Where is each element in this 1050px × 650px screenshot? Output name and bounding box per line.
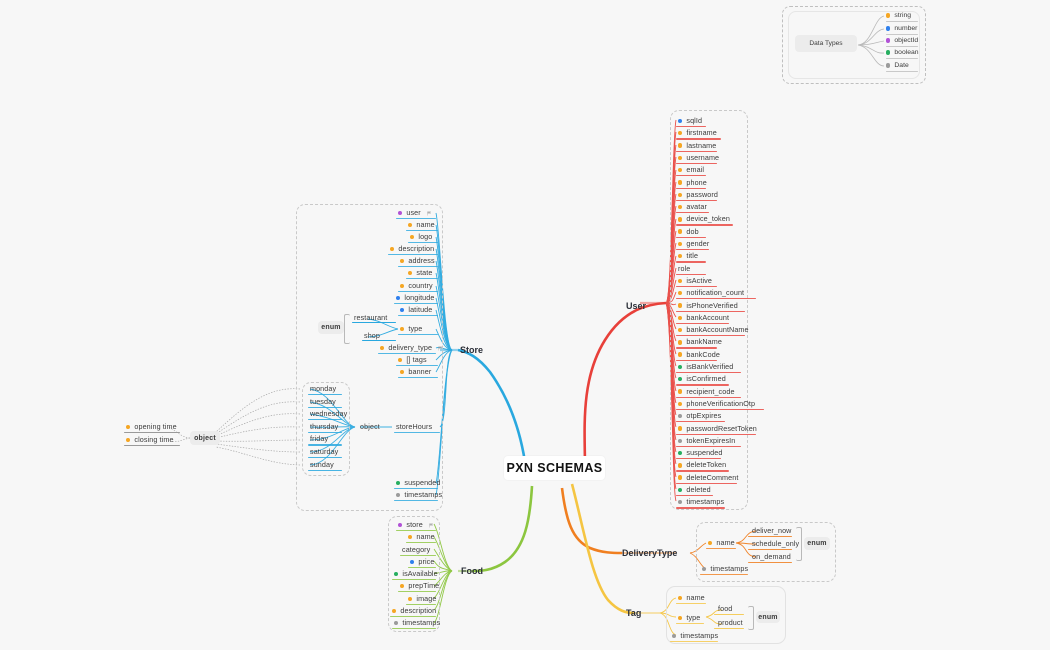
day-label: wednesday (310, 409, 347, 419)
field-label: country (408, 281, 432, 291)
field-label: deleteComment (686, 473, 738, 483)
field-label: bankAccount (686, 313, 729, 323)
type-dot-boolean (678, 488, 682, 492)
type-dot-string (678, 217, 682, 221)
type-dot-string (678, 205, 682, 209)
day-label: sunday (310, 460, 334, 470)
type-dot-number (886, 26, 890, 30)
type-dot-boolean (394, 572, 398, 576)
branch-title-tag[interactable]: Tag (626, 608, 641, 618)
field-label: passwordResetToken (686, 424, 757, 434)
user-field-underline (676, 151, 717, 152)
type-dot-string (678, 616, 682, 620)
legend-item-label: boolean (894, 49, 918, 56)
type-dot-number (400, 308, 404, 312)
type-dot-string (678, 229, 682, 233)
field-label: dob (686, 227, 698, 237)
field-label: banner (408, 367, 431, 377)
type-dot-string (678, 389, 682, 393)
type-dot-string (678, 596, 682, 600)
day-label: monday (310, 384, 336, 394)
field-label: bankName (686, 337, 722, 347)
user-field-underline (676, 446, 741, 447)
user-field-underline (676, 138, 721, 139)
user-field-underline (676, 384, 729, 385)
type-dot-string (678, 291, 682, 295)
user-field-underline (676, 507, 725, 508)
user-field-underline (676, 323, 729, 324)
type-dot-number (410, 560, 414, 564)
store-hours-day-tuesday[interactable]: tuesday (308, 397, 338, 408)
enum-value-label: schedule_only (752, 539, 799, 549)
store-hours-day-object-pill[interactable]: object (190, 431, 220, 445)
type-dot-objectid (398, 211, 402, 215)
flag-icon (438, 346, 443, 351)
store-hours-day-underline (308, 407, 342, 408)
user-field-phone[interactable]: phone (676, 178, 709, 189)
field-label: name (416, 532, 434, 542)
flag-icon (429, 523, 434, 528)
field-label: avatar (686, 202, 707, 212)
field-label: name (686, 593, 704, 603)
field-label: isAvailable (402, 569, 437, 579)
type-dot-number (396, 296, 400, 300)
type-dot-string (678, 426, 682, 430)
field-label: isActive (686, 276, 712, 286)
type-dot-string (398, 358, 402, 362)
field-label: email (686, 165, 704, 175)
type-dot-string (678, 475, 682, 479)
type-dot-string (678, 316, 682, 320)
field-label: firstname (686, 128, 716, 138)
user-field-underline (676, 311, 745, 312)
enum-value-label: product (718, 618, 743, 628)
field-label: sqlId (686, 116, 702, 126)
field-label: isBankVerified (686, 362, 733, 372)
type-dot-boolean (678, 365, 682, 369)
type-dot-date (886, 63, 890, 67)
type-dot-string (400, 327, 404, 331)
type-dot-string (708, 541, 712, 545)
day-label: friday (310, 434, 328, 444)
store-hours-day-underline (308, 444, 342, 445)
type-dot-string (678, 303, 682, 307)
legend-item-boolean[interactable]: boolean (886, 49, 919, 56)
field-label: bankAccountName (686, 325, 748, 335)
type-dot-string (678, 352, 682, 356)
legend-item-number[interactable]: number (886, 25, 917, 32)
center-node-label: PXN SCHEMAS (506, 461, 602, 475)
user-field-underline (676, 360, 717, 361)
field-label: otpExpires (686, 411, 721, 421)
field-label: password (686, 190, 718, 200)
type-dot-date (394, 621, 398, 625)
field-label: phone (686, 178, 707, 188)
field-label: prepTime (408, 581, 439, 591)
enum-value-label: food (718, 604, 732, 614)
branch-title-food[interactable]: Food (461, 566, 483, 576)
store-hours-day-underline (308, 432, 342, 433)
user-field-underline (676, 347, 717, 348)
field-label: timestamps (710, 564, 748, 574)
field-label: lastname (686, 141, 716, 151)
field-label: image (416, 594, 436, 604)
user-field-lastname[interactable]: lastname (676, 141, 718, 152)
type-dot-date (702, 567, 706, 571)
field-label: description (400, 606, 436, 616)
legend-item-label: objectId (894, 37, 918, 44)
user-field-isphoneverified[interactable]: isPhoneVerified (676, 301, 740, 312)
type-dot-boolean (886, 50, 890, 54)
center-node-pxn-schemas[interactable]: PXN SCHEMAS (504, 456, 605, 480)
type-dot-objectid (398, 523, 402, 527)
branch-title-user[interactable]: User (626, 301, 646, 311)
type-dot-string (126, 438, 130, 442)
deliverytype-enum-label[interactable]: enum (804, 537, 830, 550)
field-label: deleteToken (686, 460, 726, 470)
type-dot-string (678, 180, 682, 184)
enum-value-label: deliver_now (752, 526, 791, 536)
field-label: username (686, 153, 719, 163)
type-dot-date (678, 500, 682, 504)
type-dot-string (678, 193, 682, 197)
type-dot-string (886, 13, 890, 17)
field-label: state (416, 268, 432, 278)
type-dot-string (410, 235, 414, 239)
legend-item-string[interactable]: string (886, 12, 911, 19)
field-label: type (686, 613, 700, 623)
type-dot-string (400, 284, 404, 288)
legend-item-date[interactable]: Date (886, 62, 909, 69)
type-dot-boolean (678, 451, 682, 455)
field-label: tokenExpiresIn (686, 436, 735, 446)
branch-title-deliverytype[interactable]: DeliveryType (622, 548, 677, 558)
user-field-underline (676, 397, 741, 398)
field-label: [] tags (406, 355, 426, 365)
field-label: storeHours (396, 422, 432, 432)
type-dot-string (678, 156, 682, 160)
store-hours-closing-time-underline (124, 445, 180, 446)
user-field-underline (676, 470, 729, 471)
type-dot-string (678, 328, 682, 332)
user-field-underline (676, 261, 706, 262)
field-label: suspended (686, 448, 722, 458)
type-dot-date (678, 439, 682, 443)
connector-lines (0, 0, 1050, 650)
user-field-underline (676, 434, 756, 435)
type-dot-date (396, 493, 400, 497)
field-label: delivery_type (388, 343, 432, 353)
store-hours-opening-time-underline (124, 432, 180, 433)
store-hours-day-sunday[interactable]: sunday (308, 460, 336, 471)
field-label: isConfirmed (686, 374, 725, 384)
type-dot-objectid (886, 38, 890, 42)
type-dot-string (400, 259, 404, 263)
field-label: isPhoneVerified (686, 301, 737, 311)
legend-item-label: string (894, 12, 911, 19)
legend-item-objectid[interactable]: objectId (886, 37, 918, 44)
type-dot-date (678, 414, 682, 418)
tag-enum-label[interactable]: enum (756, 611, 780, 623)
user-field-underline (676, 163, 717, 164)
field-label: timestamps (686, 497, 724, 507)
user-field-passwordresettoken[interactable]: passwordResetToken (676, 424, 759, 435)
field-label: logo (418, 232, 432, 242)
type-dot-string (408, 535, 412, 539)
store-hours-object-label[interactable]: object (356, 421, 384, 433)
type-dot-string (392, 609, 396, 613)
type-dot-string (400, 584, 404, 588)
user-field-underline (676, 409, 764, 410)
field-label: name (716, 538, 734, 548)
type-dot-string (678, 168, 682, 172)
type-dot-string (678, 402, 682, 406)
field-label: user (406, 208, 420, 218)
field-label: longitude (404, 293, 434, 303)
user-field-recipient-code[interactable]: recipient_code (676, 387, 737, 398)
field-label: device_token (686, 214, 730, 224)
type-dot-string (678, 242, 682, 246)
field-label: store (406, 520, 422, 530)
field-label: bankCode (686, 350, 720, 360)
type-dot-string (678, 279, 682, 283)
type-dot-string (408, 597, 412, 601)
type-dot-string (380, 346, 384, 350)
branch-title-store[interactable]: Store (460, 345, 483, 355)
field-label: description (398, 244, 434, 254)
day-label: thursday (310, 422, 338, 432)
field-label: type (408, 324, 422, 334)
field-label: timestamps (404, 490, 442, 500)
type-dot-string (408, 223, 412, 227)
legend-title: Data Types (795, 35, 857, 52)
type-dot-boolean (678, 377, 682, 381)
user-field-underline (676, 286, 717, 287)
field-label: gender (686, 239, 709, 249)
tag-enum-bracket (748, 606, 754, 630)
type-dot-date (672, 634, 676, 638)
legend-item-label: Date (894, 62, 908, 69)
user-field-underline (676, 224, 733, 225)
type-dot-string (678, 131, 682, 135)
field-label: title (686, 251, 698, 261)
user-field-underline (676, 483, 737, 484)
field-label: name (416, 220, 434, 230)
store-hours-day-underline (308, 470, 342, 471)
type-dot-number (678, 119, 682, 123)
type-dot-string (678, 463, 682, 467)
type-dot-string (408, 271, 412, 275)
type-dot-boolean (396, 481, 400, 485)
mindmap-canvas: PXN SCHEMAS User Store Food DeliveryType… (0, 0, 1050, 650)
field-label: role (678, 264, 690, 274)
field-label: price (418, 557, 434, 567)
enum-value-label: on_demand (752, 552, 791, 562)
field-label: notification_count (686, 288, 744, 298)
user-field-role[interactable]: role (676, 264, 692, 275)
field-label: suspended (404, 478, 440, 488)
field-label: recipient_code (686, 387, 734, 397)
legend-item-label: number (894, 25, 917, 32)
type-dot-string (400, 370, 404, 374)
type-dot-string (678, 143, 682, 147)
field-label: timestamps (680, 631, 718, 641)
type-dot-string (678, 340, 682, 344)
field-label: timestamps (402, 618, 440, 628)
field-label: address (408, 256, 434, 266)
field-label: phoneVerificationOtp (686, 399, 755, 409)
user-field-underline (676, 274, 706, 275)
type-dot-string (126, 425, 130, 429)
field-label: category (402, 545, 430, 555)
day-label: tuesday (310, 397, 336, 407)
field-label: deleted (686, 485, 710, 495)
field-label: latitude (408, 305, 432, 315)
user-field-underline (676, 237, 706, 238)
day-label: saturday (310, 447, 338, 457)
type-dot-string (390, 247, 394, 251)
store-type-enum-bracket (344, 314, 350, 344)
flag-icon (427, 211, 432, 216)
user-field-underline (676, 200, 717, 201)
store-type-enum-label[interactable]: enum (318, 321, 344, 334)
type-dot-string (678, 254, 682, 258)
user-field-underline (676, 188, 706, 189)
